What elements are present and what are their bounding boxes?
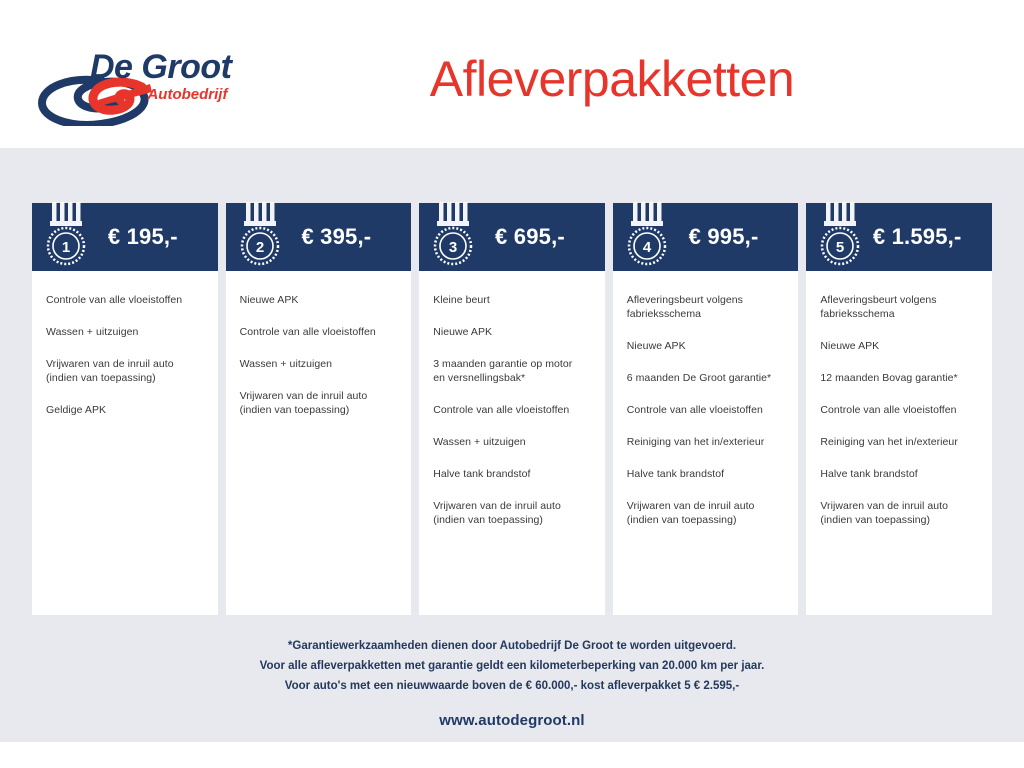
feature-item: Wassen + uitzuigen <box>240 357 398 371</box>
card-body-2: Nieuwe APK Controle van alle vloeistoffe… <box>226 271 412 615</box>
footnote-line-2: Voor alle afleverpakketten met garantie … <box>0 656 1024 676</box>
feature-item: Wassen + uitzuigen <box>433 435 591 449</box>
feature-item: Afleveringsbeurt volgens fabrieksschema <box>820 293 978 321</box>
website-link[interactable]: www.autodegroot.nl <box>0 712 1024 729</box>
feature-item: Wassen + uitzuigen <box>46 325 204 339</box>
feature-item: Vrijwaren van de inruil auto (indien van… <box>240 389 398 417</box>
medal-icon: 1 <box>44 202 88 268</box>
feature-item: Afleveringsbeurt volgens fabrieksschema <box>627 293 785 321</box>
package-cards: 1 € 195,- Controle van alle vloeistoffen… <box>32 203 992 615</box>
card-header-4: 4 € 995,- <box>613 203 799 271</box>
package-card-3[interactable]: 3 € 695,- Kleine beurt Nieuwe APK 3 maan… <box>419 203 605 615</box>
feature-item: Vrijwaren van de inruil auto (indien van… <box>46 357 204 385</box>
package-card-1[interactable]: 1 € 195,- Controle van alle vloeistoffen… <box>32 203 218 615</box>
medal-number-5: 5 <box>836 239 844 256</box>
card-body-1: Controle van alle vloeistoffen Wassen + … <box>32 271 218 615</box>
feature-item: Reiniging van het in/exterieur <box>627 435 785 449</box>
feature-item: 12 maanden Bovag garantie* <box>820 371 978 385</box>
footnote-line-3: Voor auto's met een nieuwwaarde boven de… <box>0 676 1024 696</box>
card-header-5: 5 € 1.595,- <box>806 203 992 271</box>
card-body-5: Afleveringsbeurt volgens fabrieksschema … <box>806 271 992 615</box>
card-body-4: Afleveringsbeurt volgens fabrieksschema … <box>613 271 799 615</box>
feature-item: Vrijwaren van de inruil auto (indien van… <box>627 499 785 527</box>
medal-number-4: 4 <box>643 239 652 256</box>
feature-item: 6 maanden De Groot garantie* <box>627 371 785 385</box>
card-header-3: 3 € 695,- <box>419 203 605 271</box>
card-header-1: 1 € 195,- <box>32 203 218 271</box>
feature-item: 3 maanden garantie op motor en versnelli… <box>433 357 591 385</box>
page-title: Afleverpakketten <box>0 48 1024 110</box>
medal-icon: 2 <box>238 202 282 268</box>
medal-icon: 3 <box>431 202 475 268</box>
footnote-line-1: *Garantiewerkzaamheden dienen door Autob… <box>0 636 1024 656</box>
feature-item: Geldige APK <box>46 403 204 417</box>
feature-item: Vrijwaren van de inruil auto (indien van… <box>820 499 978 527</box>
feature-item: Halve tank brandstof <box>433 467 591 481</box>
feature-item: Halve tank brandstof <box>627 467 785 481</box>
medal-number-1: 1 <box>62 239 70 256</box>
feature-item: Vrijwaren van de inruil auto (indien van… <box>433 499 591 527</box>
feature-item: Halve tank brandstof <box>820 467 978 481</box>
feature-item: Reiniging van het in/exterieur <box>820 435 978 449</box>
medal-icon: 5 <box>818 202 862 268</box>
page-root: De Groot Autobedrijf Afleverpakketten <box>0 0 1024 768</box>
feature-item: Controle van alle vloeistoffen <box>46 293 204 307</box>
feature-item: Nieuwe APK <box>820 339 978 353</box>
feature-item: Controle van alle vloeistoffen <box>433 403 591 417</box>
feature-item: Nieuwe APK <box>433 325 591 339</box>
feature-item: Controle van alle vloeistoffen <box>627 403 785 417</box>
footer-white-band <box>0 742 1024 768</box>
footer: *Garantiewerkzaamheden dienen door Autob… <box>0 636 1024 729</box>
header-band: De Groot Autobedrijf Afleverpakketten <box>0 0 1024 148</box>
medal-number-3: 3 <box>449 239 457 256</box>
medal-number-2: 2 <box>255 239 263 256</box>
feature-item: Nieuwe APK <box>627 339 785 353</box>
medal-icon: 4 <box>625 202 669 268</box>
package-card-5[interactable]: 5 € 1.595,- Afleveringsbeurt volgens fab… <box>806 203 992 615</box>
feature-item: Kleine beurt <box>433 293 591 307</box>
card-body-3: Kleine beurt Nieuwe APK 3 maanden garant… <box>419 271 605 615</box>
card-header-2: 2 € 395,- <box>226 203 412 271</box>
feature-item: Controle van alle vloeistoffen <box>820 403 978 417</box>
package-card-2[interactable]: 2 € 395,- Nieuwe APK Controle van alle v… <box>226 203 412 615</box>
feature-item: Controle van alle vloeistoffen <box>240 325 398 339</box>
package-card-4[interactable]: 4 € 995,- Afleveringsbeurt volgens fabri… <box>613 203 799 615</box>
feature-item: Nieuwe APK <box>240 293 398 307</box>
